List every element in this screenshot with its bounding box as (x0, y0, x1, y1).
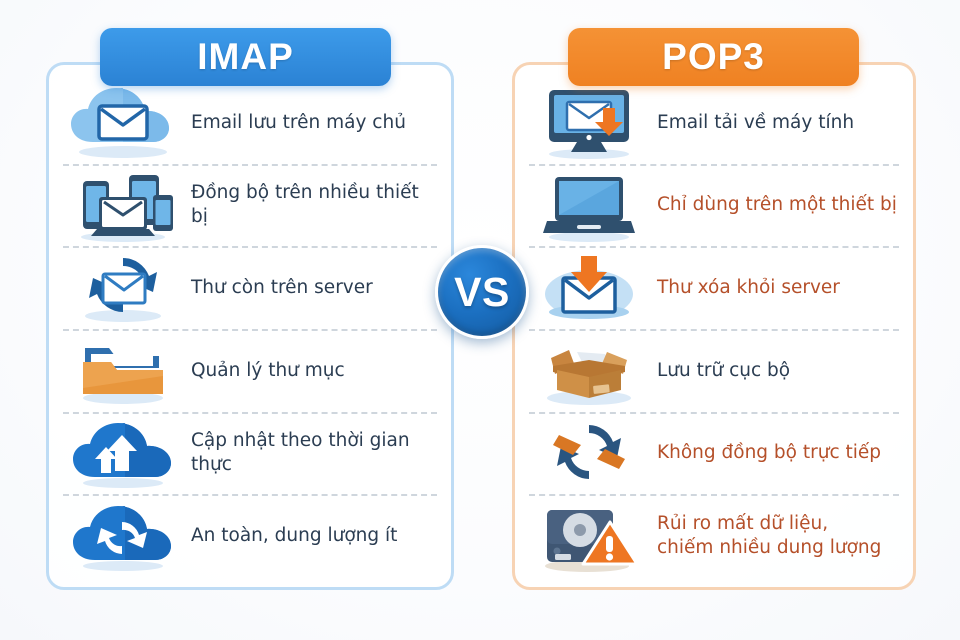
hard-disk-warning-icon (529, 497, 649, 575)
multi-device-envelope-icon (63, 166, 183, 244)
pop3-row-3: Thư xóa khỏi server (515, 246, 913, 329)
imap-row-1-label: Email lưu trên máy chủ (183, 111, 406, 135)
imap-title-pill: IMAP (100, 28, 391, 86)
imap-row-5-label: Cập nhật theo thời gian thực (183, 429, 435, 476)
imap-title-text: IMAP (197, 36, 294, 78)
pop3-row-6-label: Rủi ro mất dữ liệu, chiếm nhiều dung lượ… (649, 512, 881, 559)
pop3-row-1: Email tải về máy tính (515, 81, 913, 164)
imap-row-3: Thư còn trên server (49, 246, 451, 329)
pop3-row-4-label: Lưu trữ cục bộ (649, 359, 790, 383)
pop3-title-text: POP3 (662, 36, 765, 78)
imap-row-1: Email lưu trên máy chủ (49, 81, 451, 164)
laptop-icon (529, 166, 649, 244)
pop3-row-1-label: Email tải về máy tính (649, 111, 854, 135)
imap-row-list: Email lưu trên máy chủ (49, 81, 451, 577)
pop3-row-3-label: Thư xóa khỏi server (649, 276, 840, 300)
pop3-row-4: Lưu trữ cục bộ (515, 329, 913, 412)
pop3-row-list: Email tải về máy tính Chỉ dùng trên một … (515, 81, 913, 577)
pop3-title-pill: POP3 (568, 28, 859, 86)
imap-row-6-label: An toàn, dung lượng ít (183, 524, 397, 548)
sync-arrows-envelope-icon (63, 249, 183, 327)
pop3-row-5: Không đồng bộ trực tiếp (515, 412, 913, 495)
versus-badge: VS (435, 245, 529, 339)
imap-row-2-label: Đồng bộ trên nhiều thiết bị (183, 181, 435, 228)
cloud-envelope-icon (63, 83, 183, 161)
imap-row-4-label: Quản lý thư mục (183, 359, 345, 383)
folder-icon (63, 331, 183, 409)
pop3-row-2-label: Chỉ dùng trên một thiết bị (649, 193, 897, 217)
envelope-download-arrow-icon (529, 249, 649, 327)
pop3-panel: Email tải về máy tính Chỉ dùng trên một … (512, 62, 916, 590)
pop3-row-6: Rủi ro mất dữ liệu, chiếm nhiều dung lượ… (515, 494, 913, 577)
broken-sync-arrows-icon (529, 414, 649, 492)
imap-row-4: Quản lý thư mục (49, 329, 451, 412)
desktop-download-envelope-icon (529, 83, 649, 161)
cloud-sync-icon (63, 497, 183, 575)
imap-row-6: An toàn, dung lượng ít (49, 494, 451, 577)
infographic-canvas: Email lưu trên máy chủ (0, 0, 960, 640)
open-box-icon (529, 331, 649, 409)
imap-row-3-label: Thư còn trên server (183, 276, 373, 300)
imap-row-2: Đồng bộ trên nhiều thiết bị (49, 164, 451, 247)
imap-panel: Email lưu trên máy chủ (46, 62, 454, 590)
pop3-row-5-label: Không đồng bộ trực tiếp (649, 441, 881, 465)
pop3-row-2: Chỉ dùng trên một thiết bị (515, 164, 913, 247)
imap-row-5: Cập nhật theo thời gian thực (49, 412, 451, 495)
versus-label: VS (454, 269, 510, 316)
cloud-upload-icon (63, 414, 183, 492)
